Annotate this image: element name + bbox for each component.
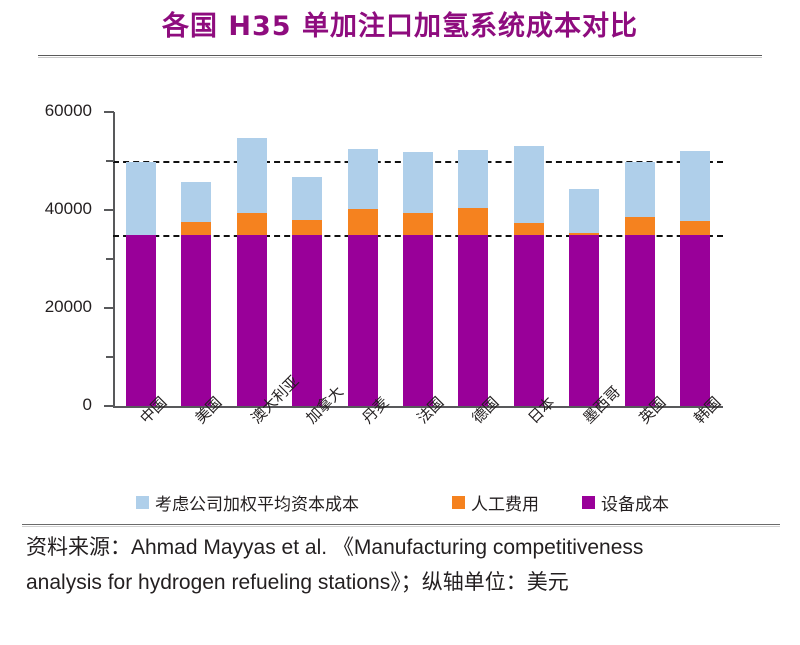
legend-label-labor: 人工费用 [471, 490, 539, 515]
bar-3[interactable] [237, 112, 267, 406]
bar-segment-设备成本 [403, 235, 433, 407]
bar-segment-人工费用 [680, 221, 710, 235]
bar-9[interactable] [569, 112, 599, 406]
legend-swatch-wacc [136, 496, 149, 509]
legend-label-wacc: 考虑公司加权平均资本成本 [155, 490, 359, 515]
bar-segment-人工费用 [514, 223, 544, 235]
bar-10[interactable] [625, 112, 655, 406]
bar-segment-考虑公司加权平均资本成本 [292, 177, 322, 220]
bar-segment-考虑公司加权平均资本成本 [514, 146, 544, 222]
y-tick-label-0: 0 [26, 395, 92, 415]
legend-item-labor[interactable]: 人工费用 [452, 490, 539, 515]
bar-segment-人工费用 [181, 222, 211, 235]
bar-segment-设备成本 [458, 235, 488, 407]
legend-label-equipment: 设备成本 [601, 490, 669, 515]
bar-segment-人工费用 [458, 208, 488, 234]
y-axis-ticks: 0200004000060000 [22, 85, 92, 430]
bar-segment-人工费用 [625, 217, 655, 235]
bar-segment-人工费用 [237, 213, 267, 235]
bar-segment-人工费用 [348, 209, 378, 234]
bar-1[interactable] [126, 112, 156, 406]
bar-segment-考虑公司加权平均资本成本 [403, 152, 433, 213]
bar-segment-设备成本 [569, 235, 599, 407]
page-title: 各国 H35 单加注口加氢系统成本对比 [0, 8, 800, 46]
bar-segment-设备成本 [625, 235, 655, 407]
bar-segment-考虑公司加权平均资本成本 [348, 149, 378, 209]
title-block: 各国 H35 单加注口加氢系统成本对比 [0, 8, 800, 46]
legend-item-wacc[interactable]: 考虑公司加权平均资本成本 [136, 490, 359, 515]
bar-segment-设备成本 [514, 235, 544, 407]
y-tick-60000 [104, 111, 114, 113]
bar-segment-考虑公司加权平均资本成本 [126, 162, 156, 235]
bar-segment-设备成本 [680, 235, 710, 407]
legend-item-equipment[interactable]: 设备成本 [582, 490, 669, 515]
bar-6[interactable] [403, 112, 433, 406]
bar-segment-考虑公司加权平均资本成本 [237, 138, 267, 212]
bar-8[interactable] [514, 112, 544, 406]
bar-5[interactable] [348, 112, 378, 406]
bar-2[interactable] [181, 112, 211, 406]
y-tick-label-60000: 60000 [26, 101, 92, 121]
y-tick-label-40000: 40000 [26, 199, 92, 219]
y-tick-40000 [104, 209, 114, 211]
chart-legend: 考虑公司加权平均资本成本人工费用设备成本 [0, 490, 800, 516]
note-divider [22, 524, 780, 527]
title-divider [38, 55, 762, 58]
bar-segment-设备成本 [126, 235, 156, 407]
bar-segment-设备成本 [181, 235, 211, 407]
bar-segment-人工费用 [292, 220, 322, 235]
source-note-prefix: 资料来源： [26, 535, 131, 559]
bar-segment-考虑公司加权平均资本成本 [181, 182, 211, 222]
bar-segment-考虑公司加权平均资本成本 [625, 162, 655, 217]
bar-4[interactable] [292, 112, 322, 406]
bar-segment-考虑公司加权平均资本成本 [569, 189, 599, 233]
plot-area: 0200004000060000 中国美国澳大利亚加拿大丹麦法国德国日本墨西哥英… [0, 85, 800, 430]
bar-segment-考虑公司加权平均资本成本 [458, 150, 488, 208]
legend-swatch-labor [452, 496, 465, 509]
chart-page: 各国 H35 单加注口加氢系统成本对比 0200004000060000 中国美… [0, 0, 800, 645]
bar-segment-设备成本 [348, 235, 378, 407]
bar-7[interactable] [458, 112, 488, 406]
y-tick-10000 [106, 356, 114, 358]
bar-series-group [113, 85, 723, 408]
y-tick-50000 [106, 160, 114, 162]
bar-segment-人工费用 [403, 213, 433, 235]
bar-segment-设备成本 [237, 235, 267, 407]
y-tick-30000 [106, 258, 114, 260]
source-note-suffix: 纵轴单位：美元 [422, 570, 569, 594]
y-tick-20000 [104, 307, 114, 309]
y-tick-label-20000: 20000 [26, 297, 92, 317]
bar-segment-人工费用 [569, 233, 599, 235]
source-note: 资料来源：Ahmad Mayyas et al. 《Manufacturing … [26, 530, 706, 600]
y-tick-0 [104, 405, 114, 407]
legend-swatch-equipment [582, 496, 595, 509]
bar-segment-考虑公司加权平均资本成本 [680, 151, 710, 221]
bar-11[interactable] [680, 112, 710, 406]
